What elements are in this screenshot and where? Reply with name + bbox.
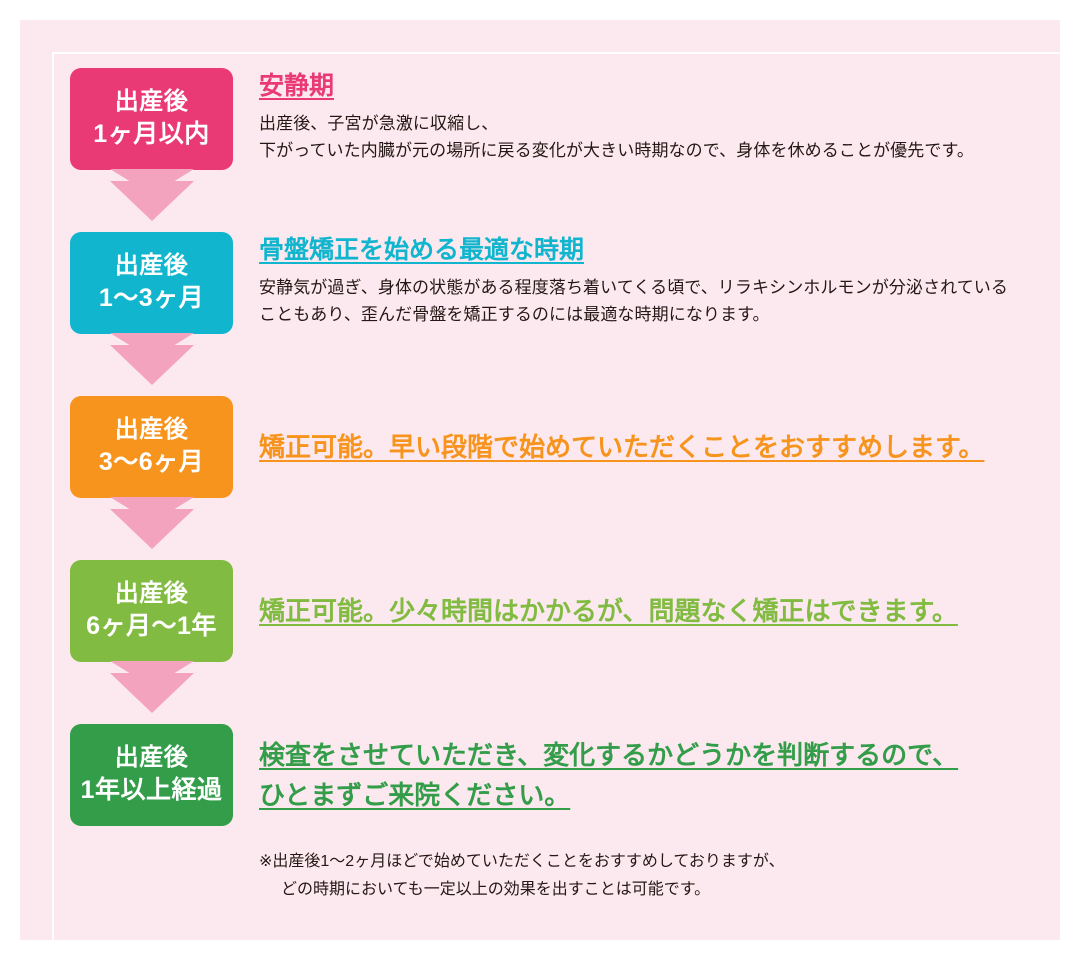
flow-arrow-1 [70,170,233,232]
stage-body-2: 安静気が過ぎ、身体の状態がある程度落ち着いてくる頃で、リラキシンホルモンが分泌さ… [259,274,1060,329]
stage-badge-1-line1: 出産後 [115,86,189,118]
stage-body-2-line1: 安静気が過ぎ、身体の状態がある程度落ち着いてくる頃で、リラキシンホルモンが分泌さ… [259,274,1060,302]
footnote-line2: どの時期においても一定以上の効果を出すことは可能です。 [259,876,1060,904]
flow-arrow-2 [70,334,233,396]
down-arrow-icon [110,673,194,713]
stage-body-1: 出産後、子宮が急激に収縮し、 下がっていた内臓が元の場所に戻る変化が大きい時期な… [259,110,1060,165]
stage-badge-5-line2: 1年以上経過 [81,774,223,808]
stage-badge-1: 出産後 1ヶ月以内 [70,68,233,170]
stage-badge-3-line1: 出産後 [115,414,189,446]
stage-content-4: 矯正可能。少々時間はかかるが、問題なく矯正はできます。 [233,591,1060,631]
stage-badge-2-line2: 1〜3ヶ月 [99,282,204,316]
stage-body-1-line2: 下がっていた内臓が元の場所に戻る変化が大きい時期なので、身体を休めることが優先で… [259,137,1060,165]
stage-content-5: 検査をさせていただき、変化するかどうかを判断するので、 ひとまずご来院ください。 [233,735,1060,816]
stage-content-2: 骨盤矯正を始める最適な時期 安静気が過ぎ、身体の状態がある程度落ち着いてくる頃で… [233,232,1060,329]
stage-body-2-line2: こともあり、歪んだ骨盤を矯正するのには最適な時期になります。 [259,301,1060,329]
stage-heading-4: 矯正可能。少々時間はかかるが、問題なく矯正はできます。 [259,591,958,631]
stage-badge-3: 出産後 3〜6ヶ月 [70,396,233,498]
stage-heading-3: 矯正可能。早い段階で始めていただくことをおすすめします。 [259,427,984,467]
stage-badge-3-line2: 3〜6ヶ月 [99,446,204,480]
stage-badge-2: 出産後 1〜3ヶ月 [70,232,233,334]
down-arrow-icon [110,181,194,221]
stage-badge-1-line2: 1ヶ月以内 [93,118,209,152]
flow-arrow-4 [70,662,233,724]
stage-heading-5-line2: ひとまずご来院ください。 [259,775,570,815]
timeline-flow: 出産後 1ヶ月以内 安静期 出産後、子宮が急激に収縮し、 下がっていた内臓が元の… [70,68,1060,904]
stage-badge-4-line2: 6ヶ月〜1年 [86,610,217,644]
stage-body-1-line1: 出産後、子宮が急激に収縮し、 [259,110,1060,138]
stage-badge-5-line1: 出産後 [115,742,189,774]
stage-badge-5: 出産後 1年以上経過 [70,724,233,826]
stage-badge-4: 出産後 6ヶ月〜1年 [70,560,233,662]
stage-heading-5-line1: 検査をさせていただき、変化するかどうかを判断するので、 [259,735,958,775]
footnote-line1: ※出産後1〜2ヶ月ほどで始めていただくことをおすすめしておりますが、 [259,848,1060,876]
stage-row-4: 出産後 6ヶ月〜1年 矯正可能。少々時間はかかるが、問題なく矯正はできます。 [70,560,1060,662]
stage-heading-1: 安静期 [259,70,334,104]
stage-heading-2: 骨盤矯正を始める最適な時期 [259,234,584,268]
footnote: ※出産後1〜2ヶ月ほどで始めていただくことをおすすめしておりますが、 どの時期に… [259,848,1060,904]
stage-row-3: 出産後 3〜6ヶ月 矯正可能。早い段階で始めていただくことをおすすめします。 [70,396,1060,498]
stage-row-5: 出産後 1年以上経過 検査をさせていただき、変化するかどうかを判断するので、 ひ… [70,724,1060,826]
flow-arrow-3 [70,498,233,560]
down-arrow-icon [110,345,194,385]
stage-badge-4-line1: 出産後 [115,578,189,610]
infographic-frame: 出産後 1ヶ月以内 安静期 出産後、子宮が急激に収縮し、 下がっていた内臓が元の… [20,20,1060,940]
stage-content-1: 安静期 出産後、子宮が急激に収縮し、 下がっていた内臓が元の場所に戻る変化が大き… [233,68,1060,165]
stage-row-1: 出産後 1ヶ月以内 安静期 出産後、子宮が急激に収縮し、 下がっていた内臓が元の… [70,68,1060,170]
stage-badge-2-line1: 出産後 [115,250,189,282]
down-arrow-icon [110,509,194,549]
stage-content-3: 矯正可能。早い段階で始めていただくことをおすすめします。 [233,427,1060,467]
stage-row-2: 出産後 1〜3ヶ月 骨盤矯正を始める最適な時期 安静気が過ぎ、身体の状態がある程… [70,232,1060,334]
